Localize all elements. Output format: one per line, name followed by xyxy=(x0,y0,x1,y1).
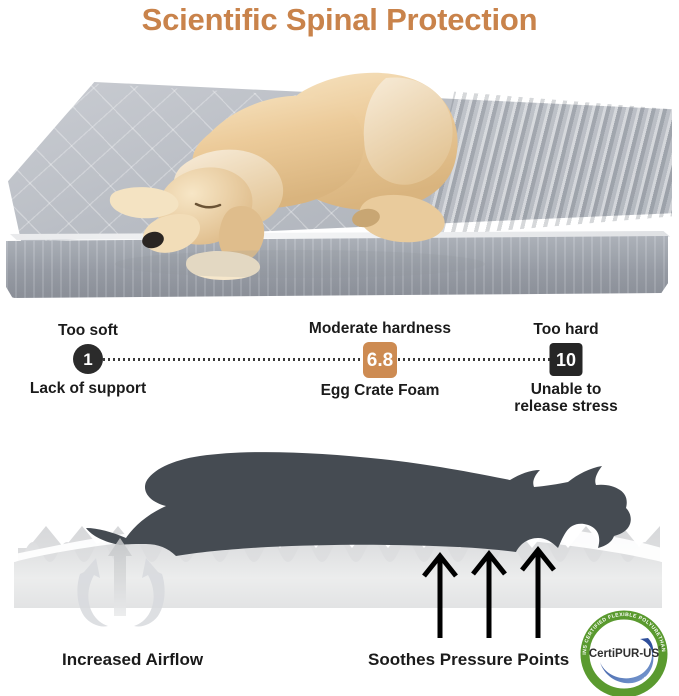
scale-marker-1-value: 1 xyxy=(73,344,103,374)
scale-marker-10-bottom-line1: Unable to xyxy=(441,381,679,398)
scale-marker-68-value: 6.8 xyxy=(363,342,397,378)
badge-registered-mark: ® xyxy=(658,645,662,652)
caption-increased-airflow: Increased Airflow xyxy=(62,650,203,670)
scale-marker-10-value: 10 xyxy=(550,343,583,376)
scale-marker-10-top-label: Too hard xyxy=(451,321,679,339)
page-title: Scientific Spinal Protection xyxy=(0,2,679,38)
caption-soothes-pressure-points: Soothes Pressure Points xyxy=(368,650,569,670)
certipur-us-badge: CONTAINS CERTIFIED FLEXIBLE POLYURETHANE… xyxy=(578,608,670,696)
infographic-page: Scientific Spinal Protection xyxy=(0,0,679,696)
certipur-badge-svg: CONTAINS CERTIFIED FLEXIBLE POLYURETHANE… xyxy=(578,608,670,696)
hardness-scale: Too soft 1 Lack of support Moderate hard… xyxy=(0,312,679,420)
scale-marker-1-bottom-label: Lack of support xyxy=(0,380,213,397)
scale-marker-1-top-label: Too soft xyxy=(0,322,203,340)
dog-shadow xyxy=(115,250,485,278)
badge-wordmark: CertiPUR-US xyxy=(589,648,660,660)
scale-marker-10-bottom-line2: release stress xyxy=(441,398,679,415)
product-photo xyxy=(0,58,679,298)
dog-silhouette xyxy=(86,452,631,556)
scale-dotted-line xyxy=(88,358,566,361)
scale-marker-10-bottom-label: Unable to release stress xyxy=(441,381,679,415)
dog-photo-illustration xyxy=(0,58,679,298)
